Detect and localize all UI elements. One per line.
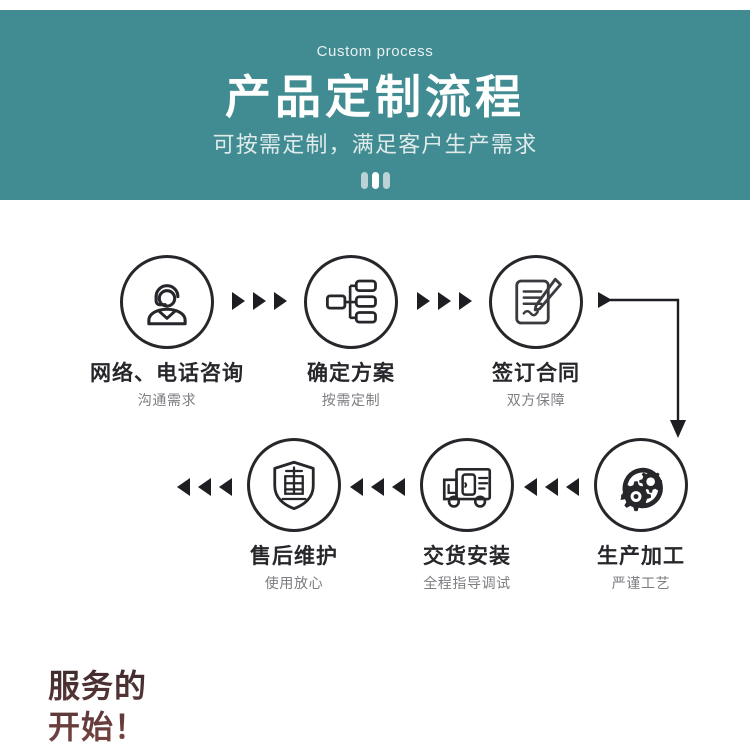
banner-dot-indicator [0,172,750,189]
org-chart-icon [323,274,379,330]
pill-dot-1 [361,172,368,189]
flow-step-3[interactable]: 签订合同 双方保障 [446,255,626,407]
flow-step-2-circle [304,255,398,349]
flow-step-1-title: 网络、电话咨询 [77,363,257,384]
service-start-line-2: 开始！ [48,707,198,748]
flow-step-4-circle [594,438,688,532]
service-start-line-1: 服务的 [48,666,198,707]
process-flow-diagram: 网络、电话咨询 沟通需求 确定方案 按需定制 [0,200,750,630]
flow-step-6[interactable]: 售后维护 使用放心 [204,438,384,590]
flow-step-1-circle [120,255,214,349]
backward-arrow-icon [524,478,537,496]
forward-arrow-icon [417,292,430,310]
flow-step-6-title: 售后维护 [204,546,384,567]
shield-aftersales-icon [266,457,322,513]
flow-step-4-desc: 严谨工艺 [551,576,731,590]
flow-step-1-desc: 沟通需求 [77,393,257,407]
flow-step-3-title: 签订合同 [446,363,626,384]
page-title: 产品定制流程 [0,73,750,123]
gears-production-icon [611,455,671,515]
flow-step-1[interactable]: 网络、电话咨询 沟通需求 [77,255,257,407]
flow-step-5-desc: 全程指导调试 [377,576,557,590]
backward-arrow-icon [177,478,190,496]
flow-step-5[interactable]: 交货安装 全程指导调试 [377,438,557,590]
flow-step-3-desc: 双方保障 [446,393,626,407]
flow-step-6-circle [247,438,341,532]
pill-dot-3 [383,172,390,189]
flow-step-5-circle [420,438,514,532]
flow-step-2[interactable]: 确定方案 按需定制 [261,255,441,407]
pill-dot-2 [372,172,379,189]
headset-person-icon [138,273,196,331]
contract-signing-icon [508,274,564,330]
backward-arrow-icon [350,478,363,496]
flow-step-4-title: 生产加工 [551,546,731,567]
banner-subtitle: 可按需定制，满足客户生产需求 [0,134,750,156]
flow-step-6-desc: 使用放心 [204,576,384,590]
flow-step-5-title: 交货安装 [377,546,557,567]
delivery-truck-icon [439,457,495,513]
forward-arrow-icon [232,292,245,310]
flow-step-2-title: 确定方案 [261,363,441,384]
flow-step-2-desc: 按需定制 [261,393,441,407]
banner-eyebrow-text: Custom process [0,44,750,59]
header-banner: Custom process 产品定制流程 可按需定制，满足客户生产需求 [0,10,750,200]
flow-step-3-circle [489,255,583,349]
service-start-text: 服务的 开始！ [48,666,198,748]
flow-step-4[interactable]: 生产加工 严谨工艺 [551,438,731,590]
